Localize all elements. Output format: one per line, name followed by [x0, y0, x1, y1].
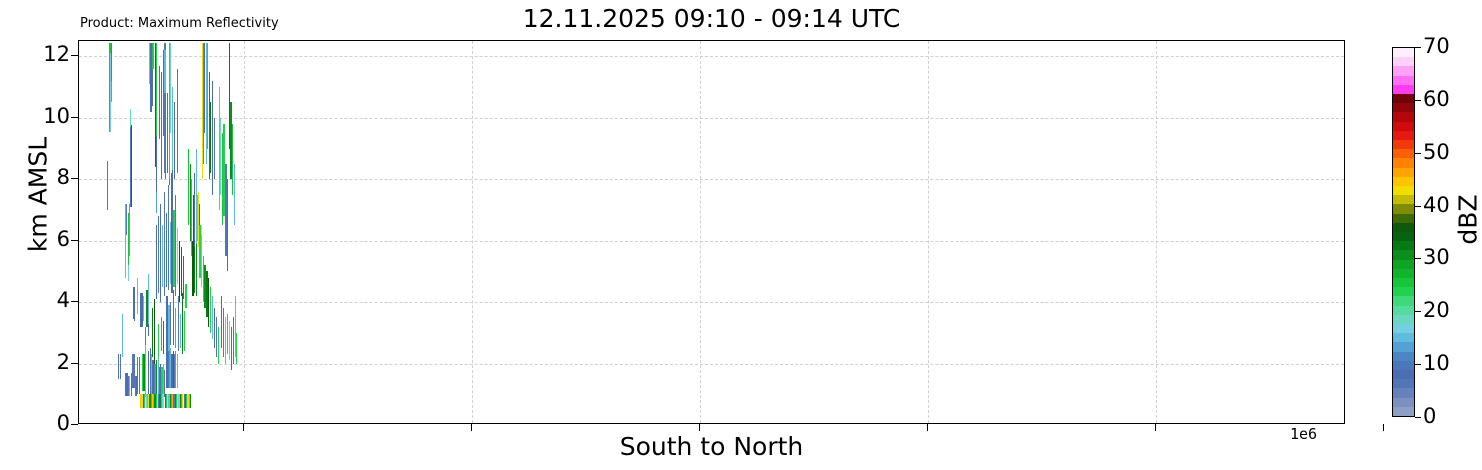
- reflectivity-segment: [177, 228, 178, 283]
- colorbar-band: [1393, 305, 1414, 315]
- colorbar-band: [1393, 47, 1414, 57]
- colorbar-band: [1393, 158, 1414, 168]
- reflectivity-segment: [148, 274, 149, 323]
- colorbar-band: [1393, 194, 1414, 204]
- y-tick-mark: [71, 240, 78, 241]
- colorbar-tick-label: 0: [1423, 406, 1436, 427]
- colorbar-band: [1393, 213, 1414, 223]
- reflectivity-segment: [152, 308, 153, 357]
- colorbar-tick-mark: [1415, 100, 1421, 101]
- reflectivity-segment: [128, 265, 129, 280]
- colorbar-band: [1393, 323, 1414, 333]
- colorbar-band: [1393, 277, 1414, 287]
- colorbar-band: [1393, 397, 1414, 407]
- reflectivity-segment: [164, 370, 165, 398]
- reflectivity-segment: [126, 204, 127, 235]
- colorbar-gradient: [1392, 47, 1415, 417]
- reflectivity-segment: [139, 357, 140, 394]
- colorbar-band: [1393, 240, 1414, 250]
- colorbar-band: [1393, 268, 1414, 278]
- reflectivity-segment: [234, 164, 235, 225]
- reflectivity-segment: [129, 204, 130, 256]
- x-tick-mark: [927, 424, 928, 431]
- reflectivity-segment: [145, 345, 146, 397]
- colorbar-tick-label: 20: [1423, 300, 1450, 321]
- colorbar-label: dBZ: [1454, 150, 1482, 290]
- colorbar-band: [1393, 332, 1414, 342]
- colorbar-tick-label: 50: [1423, 142, 1450, 163]
- reflectivity-segment: [158, 324, 159, 358]
- x-tick-mark: [1155, 424, 1156, 431]
- reflectivity-segment: [185, 284, 186, 309]
- reflectivity-columns: [79, 41, 1344, 423]
- reflectivity-segment: [214, 118, 215, 179]
- colorbar-tick-label: 10: [1423, 353, 1450, 374]
- colorbar-tick-label: 40: [1423, 195, 1450, 216]
- colorbar-tick-mark: [1415, 364, 1421, 365]
- x-tick-mark: [1383, 424, 1384, 431]
- colorbar-tick-mark: [1415, 311, 1421, 312]
- x-axis-offset-text: 1e6: [1290, 425, 1317, 443]
- reflectivity-segment: [175, 308, 176, 348]
- colorbar-band: [1393, 360, 1414, 370]
- reflectivity-segment: [111, 81, 112, 103]
- reflectivity-segment: [227, 179, 228, 271]
- reflectivity-segment: [107, 161, 108, 210]
- colorbar-band: [1393, 406, 1414, 416]
- y-tick-mark: [71, 301, 78, 302]
- reflectivity-segment: [156, 225, 157, 299]
- y-tick-label: 12: [43, 44, 70, 65]
- reflectivity-segment: [196, 244, 197, 296]
- colorbar-band: [1393, 139, 1414, 149]
- reflectivity-segment: [130, 109, 131, 127]
- y-tick-mark: [71, 55, 78, 56]
- colorbar: [1392, 47, 1415, 417]
- colorbar-band: [1393, 388, 1414, 398]
- colorbar-band: [1393, 204, 1414, 214]
- reflectivity-segment: [174, 102, 175, 179]
- colorbar-band: [1393, 250, 1414, 260]
- reflectivity-segment: [170, 302, 171, 345]
- reflectivity-segment: [120, 354, 121, 379]
- y-tick-label: 6: [57, 229, 70, 250]
- y-tick-mark: [71, 363, 78, 364]
- y-tick-label: 8: [57, 167, 70, 188]
- x-tick-mark: [471, 424, 472, 431]
- y-tick-mark: [71, 117, 78, 118]
- y-tick-label: 0: [57, 413, 70, 434]
- colorbar-tick-label: 30: [1423, 247, 1450, 268]
- reflectivity-segment: [156, 43, 157, 149]
- colorbar-band: [1393, 314, 1414, 324]
- colorbar-band: [1393, 167, 1414, 177]
- colorbar-tick-mark: [1415, 47, 1421, 48]
- colorbar-band: [1393, 369, 1414, 379]
- reflectivity-segment: [164, 50, 165, 93]
- reflectivity-segment: [177, 354, 178, 388]
- plot-area: [78, 40, 1345, 424]
- radar-cross-section-figure: 12.11.2025 09:10 - 09:14 UTC Product: Ma…: [0, 0, 1482, 470]
- x-axis-label: South to North: [78, 432, 1345, 461]
- reflectivity-segment: [111, 43, 112, 81]
- reflectivity-segment: [137, 278, 138, 315]
- x-tick-mark: [699, 424, 700, 431]
- reflectivity-segment: [190, 394, 191, 408]
- colorbar-band: [1393, 93, 1414, 103]
- colorbar-band: [1393, 351, 1414, 361]
- reflectivity-segment: [145, 327, 146, 345]
- colorbar-band: [1393, 378, 1414, 388]
- reflectivity-segment: [122, 314, 123, 357]
- colorbar-tick-label: 60: [1423, 89, 1450, 110]
- reflectivity-segment: [131, 125, 132, 206]
- colorbar-band: [1393, 296, 1414, 306]
- colorbar-band: [1393, 84, 1414, 94]
- reflectivity-segment: [183, 256, 184, 299]
- reflectivity-segment: [201, 235, 202, 278]
- y-tick-label: 10: [43, 106, 70, 127]
- reflectivity-segment: [154, 299, 155, 364]
- reflectivity-segment: [163, 321, 164, 355]
- colorbar-band: [1393, 185, 1414, 195]
- reflectivity-segment: [218, 327, 219, 364]
- colorbar-band: [1393, 75, 1414, 85]
- reflectivity-segment: [236, 333, 237, 364]
- reflectivity-segment: [229, 321, 230, 361]
- colorbar-tick-mark: [1415, 153, 1421, 154]
- x-tick-mark: [243, 424, 244, 431]
- colorbar-band: [1393, 112, 1414, 122]
- colorbar-band: [1393, 102, 1414, 112]
- colorbar-band: [1393, 148, 1414, 158]
- colorbar-band: [1393, 286, 1414, 296]
- colorbar-band: [1393, 259, 1414, 269]
- reflectivity-segment: [134, 287, 135, 321]
- colorbar-band: [1393, 222, 1414, 232]
- reflectivity-segment: [148, 351, 149, 397]
- reflectivity-segment: [156, 192, 157, 214]
- colorbar-band: [1393, 56, 1414, 66]
- colorbar-band: [1393, 130, 1414, 140]
- reflectivity-segment: [177, 69, 178, 173]
- reflectivity-segment: [152, 69, 153, 106]
- colorbar-tick-mark: [1415, 417, 1421, 418]
- y-tick-mark: [71, 178, 78, 179]
- reflectivity-segment: [131, 373, 132, 396]
- colorbar-band: [1393, 231, 1414, 241]
- reflectivity-segment: [159, 66, 160, 140]
- reflectivity-segment: [143, 296, 144, 321]
- product-subtitle: Product: Maximum Reflectivity: [80, 16, 279, 31]
- colorbar-band: [1393, 176, 1414, 186]
- reflectivity-segment: [184, 311, 185, 351]
- colorbar-tick-label: 70: [1423, 36, 1450, 57]
- colorbar-band: [1393, 342, 1414, 352]
- y-tick-label: 4: [57, 290, 70, 311]
- colorbar-tick-mark: [1415, 206, 1421, 207]
- reflectivity-segment: [156, 136, 157, 191]
- y-tick-mark: [71, 424, 78, 425]
- colorbar-band: [1393, 121, 1414, 131]
- colorbar-tick-mark: [1415, 258, 1421, 259]
- reflectivity-segment: [136, 376, 137, 396]
- reflectivity-segment: [148, 324, 149, 336]
- colorbar-band: [1393, 66, 1414, 76]
- y-tick-label: 2: [57, 352, 70, 373]
- reflectivity-segment: [153, 43, 154, 69]
